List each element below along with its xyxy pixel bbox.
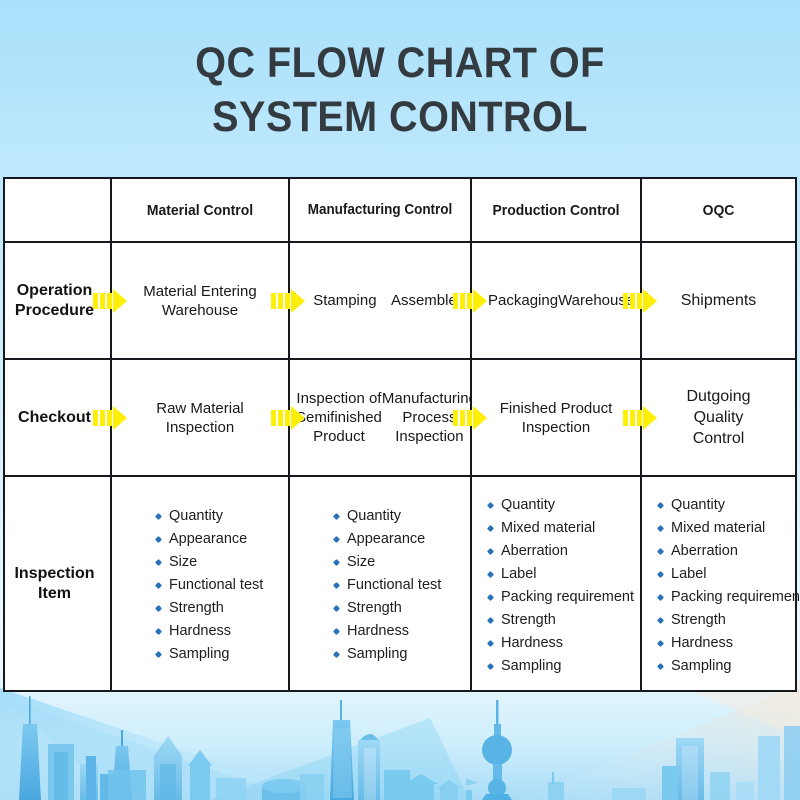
inspection-material-cell: QuantityAppearanceSizeFunctional testStr… [111,476,289,691]
list-item: Quantity [332,505,470,528]
finished-product-inspection-text: Finished Product Inspection [472,399,640,437]
list-item: Appearance [332,528,470,551]
list-item: Sampling [332,643,470,666]
list-item: Label [656,563,795,586]
header-cell-oqc: OQC [641,178,796,242]
operation-procedure-label-cell: Operation Procedure [4,242,111,359]
qc-flow-chart-page: QC FLOW CHART OF SYSTEM CONTROL Material… [0,0,800,800]
manufacturing-process-inspection-line-3: Inspection [382,427,477,446]
title-line-1: QC FLOW CHART OF [32,36,768,90]
list-item: Hardness [154,620,288,643]
raw-material-inspection-line-2: Inspection [112,418,288,437]
operation-procedure-row: Operation Procedure Material Entering Wa… [4,242,796,359]
operation-oqc-cell: Shipments [641,242,796,359]
operation-manufacturing-cell: Stamping Assemble [289,242,471,359]
header-cell-manufacturing-control: Manufacturing Control [289,178,471,242]
list-item: Hardness [486,632,640,655]
list-item: Aberration [656,540,795,563]
inspection-item-label-cell: Inspection Item [4,476,111,691]
operation-production-cell: Packaging Warehouse [471,242,641,359]
checkout-row: Checkout Raw Material Inspection Inspect… [4,359,796,476]
list-item: Strength [332,597,470,620]
material-inspection-item-list: QuantityAppearanceSizeFunctional testStr… [112,501,288,666]
operation-procedure-label-line-2: Procedure [5,301,104,321]
outgoing-quality-control-line-2: Quality [642,407,795,428]
header-cell-material-control: Material Control [111,178,289,242]
list-item: Sampling [656,655,795,678]
list-item: Mixed material [656,517,795,540]
finished-product-inspection-line-2: Inspection [472,418,640,437]
outgoing-quality-control-line-3: Control [642,428,795,449]
list-item: Mixed material [486,517,640,540]
list-item: Strength [656,609,795,632]
header-manufacturing-control-label: Manufacturing Control [296,202,463,218]
list-item: Packing requirement [486,586,640,609]
header-oqc-label: OQC [647,202,789,219]
assemble-text: Assemble [391,291,457,310]
finished-product-inspection-line-1: Finished Product [472,399,640,418]
list-item: Hardness [332,620,470,643]
material-entering-warehouse-line-2: Warehouse [112,301,288,320]
list-item: Quantity [656,494,795,517]
list-item: Aberration [486,540,640,563]
list-item: Strength [486,609,640,632]
qc-flow-table: Material Control Manufacturing Control P… [3,177,797,692]
outgoing-quality-control-line-1: Dutgoing [642,386,795,407]
checkout-oqc-cell: Dutgoing Quality Control [641,359,796,476]
page-title: QC FLOW CHART OF SYSTEM CONTROL [0,36,800,144]
header-production-control-label: Production Control [478,202,634,219]
list-item: Label [486,563,640,586]
list-item: Strength [154,597,288,620]
title-line-2: SYSTEM CONTROL [32,90,768,144]
checkout-manufacturing-cell: Inspection of Semifinished Product Manuf… [289,359,471,476]
inspection-item-label: Inspection Item [5,564,110,604]
inspection-semifinished-line-3: Product [296,427,382,446]
checkout-label: Checkout [5,408,110,428]
list-item: Quantity [154,505,288,528]
checkout-material-cell: Raw Material Inspection [111,359,289,476]
production-inspection-item-list: QuantityMixed materialAberrationLabelPac… [472,490,640,678]
shipments-text: Shipments [642,290,795,311]
manufacturing-inspection-item-list: QuantityAppearanceSizeFunctional testStr… [290,501,470,666]
inspection-item-row: Inspection Item QuantityAppearanceSizeFu… [4,476,796,691]
inspection-item-label-line-1: Inspection [5,564,104,584]
header-cell-corner [4,178,111,242]
manufacturing-process-inspection-line-1: Manufacturing [382,389,477,408]
inspection-semifinished-text: Inspection of Semifinished Product [296,389,382,446]
list-item: Functional test [154,574,288,597]
inspection-item-label-line-2: Item [5,584,104,604]
list-item: Size [332,551,470,574]
manufacturing-process-inspection-line-2: Process [382,408,477,427]
packaging-text: Packaging [478,291,558,310]
list-item: Quantity [486,494,640,517]
list-item: Hardness [656,632,795,655]
header-cell-production-control: Production Control [471,178,641,242]
list-item: Sampling [486,655,640,678]
list-item: Sampling [154,643,288,666]
inspection-oqc-cell: QuantityMixed materialAberrationLabelPac… [641,476,796,691]
oqc-inspection-item-list: QuantityMixed materialAberrationLabelPac… [642,490,795,678]
checkout-label-cell: Checkout [4,359,111,476]
header-material-control-label: Material Control [118,202,282,219]
inspection-semifinished-line-2: Semifinished [296,408,382,427]
material-entering-warehouse-text: Material Entering Warehouse [112,282,288,320]
raw-material-inspection-text: Raw Material Inspection [112,399,288,437]
operation-procedure-label: Operation Procedure [5,281,110,321]
operation-material-cell: Material Entering Warehouse [111,242,289,359]
list-item: Functional test [332,574,470,597]
manufacturing-process-inspection-text: Manufacturing Process Inspection [382,389,477,446]
material-entering-warehouse-line-1: Material Entering [112,282,288,301]
raw-material-inspection-line-1: Raw Material [112,399,288,418]
inspection-production-cell: QuantityMixed materialAberrationLabelPac… [471,476,641,691]
list-item: Appearance [154,528,288,551]
operation-procedure-label-line-1: Operation [5,281,104,301]
warehouse-text: Warehouse [558,291,634,310]
list-item: Packing requirement [656,586,795,609]
inspection-manufacturing-cell: QuantityAppearanceSizeFunctional testStr… [289,476,471,691]
outgoing-quality-control-text: Dutgoing Quality Control [642,386,795,449]
list-item: Size [154,551,288,574]
checkout-production-cell: Finished Product Inspection [471,359,641,476]
inspection-semifinished-line-1: Inspection of [296,389,382,408]
stamping-text: Stamping [303,291,376,310]
table-header-row: Material Control Manufacturing Control P… [4,178,796,242]
city-skyline-graphic [0,678,800,800]
